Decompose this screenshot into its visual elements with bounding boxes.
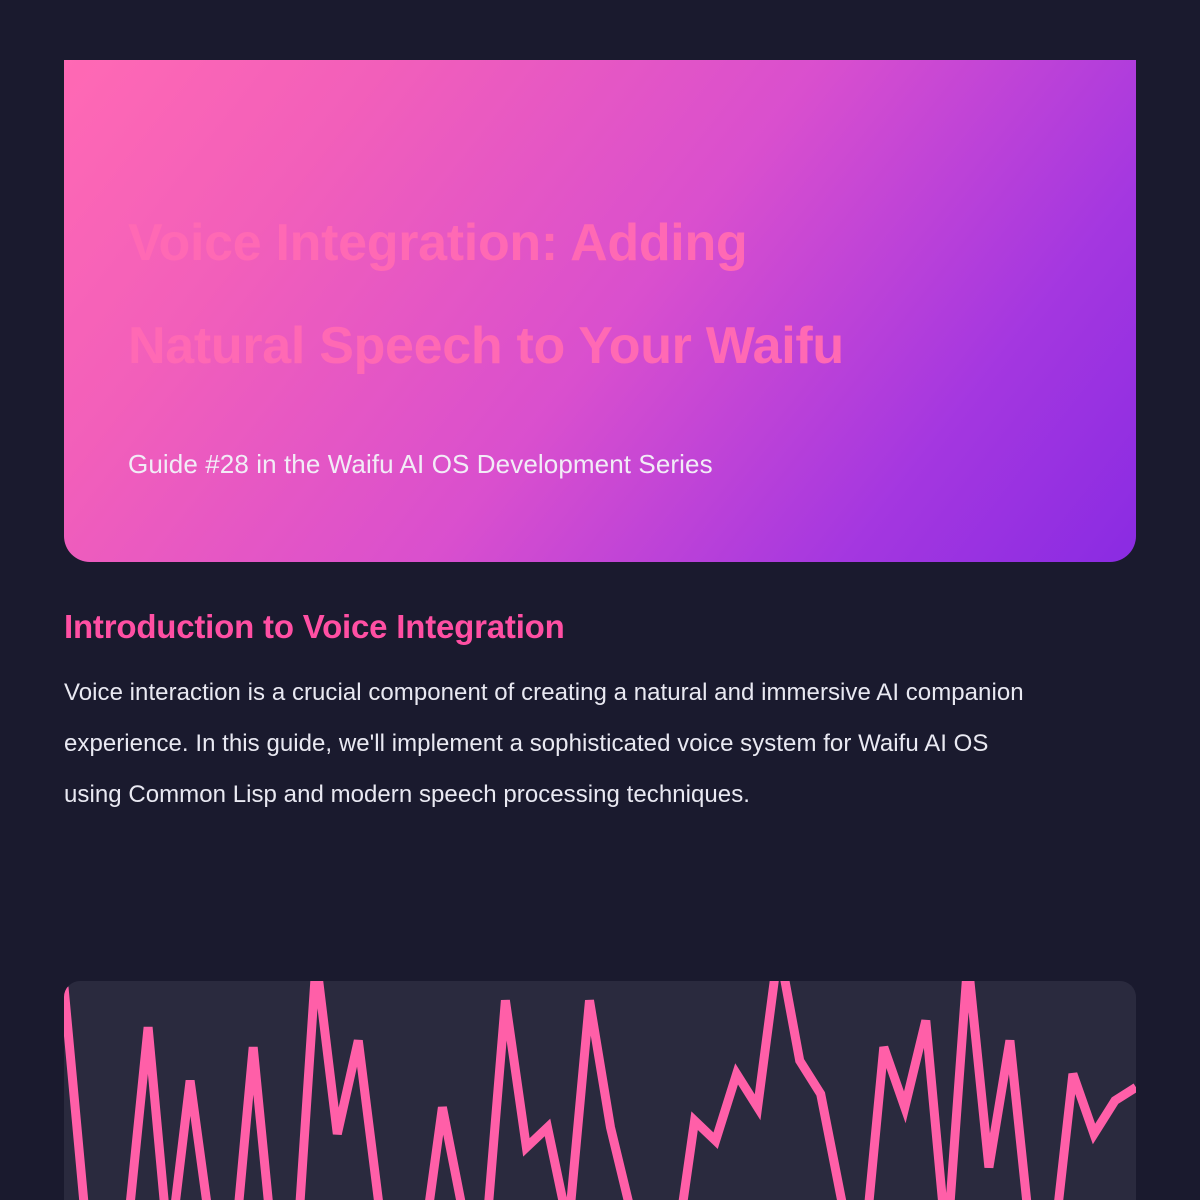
- hero-banner: Voice Integration: Adding Natural Speech…: [64, 60, 1136, 562]
- waveform-visualization-card: [64, 981, 1136, 1200]
- article-page: Voice Integration: Adding Natural Speech…: [0, 0, 1200, 1200]
- hero-content: Voice Integration: Adding Natural Speech…: [64, 60, 1136, 482]
- intro-paragraph: Voice interaction is a crucial component…: [64, 667, 1049, 820]
- waveform-chart: [64, 981, 1136, 1200]
- page-title-line-1: Voice Integration: Adding: [128, 214, 747, 272]
- waveform-line: [64, 981, 1136, 1200]
- article-content: Introduction to Voice Integration Voice …: [64, 606, 1136, 820]
- page-title: Voice Integration: Adding Natural Speech…: [128, 192, 1028, 398]
- page-title-line-2: Natural Speech to Your Waifu: [128, 317, 844, 375]
- section-heading-introduction: Introduction to Voice Integration: [64, 606, 1136, 649]
- page-subtitle: Guide #28 in the Waifu AI OS Development…: [128, 446, 1072, 482]
